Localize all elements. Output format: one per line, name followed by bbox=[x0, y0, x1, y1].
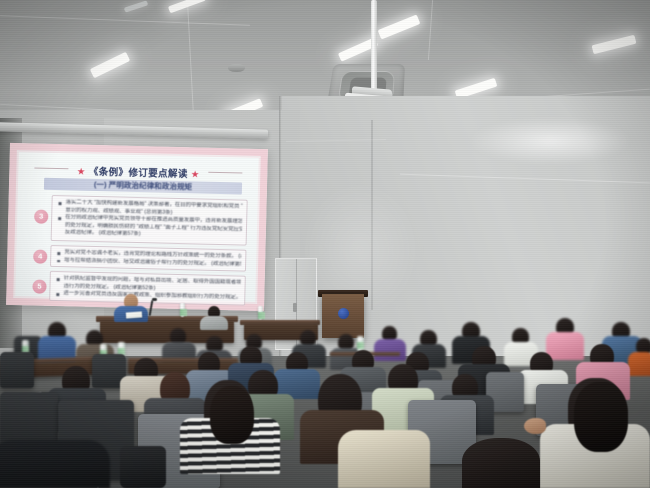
attendee-hand bbox=[524, 418, 546, 434]
attendee-body bbox=[0, 440, 110, 488]
chair bbox=[0, 352, 34, 388]
star-icon-right: ★ bbox=[191, 169, 200, 180]
presenter-document bbox=[126, 311, 142, 318]
attendee-body bbox=[628, 352, 650, 376]
star-icon-left: ★ bbox=[77, 167, 86, 178]
door-handle-icon[interactable] bbox=[293, 303, 297, 312]
slide-section-number: 4 bbox=[33, 249, 47, 263]
lectern-emblem-icon bbox=[338, 308, 349, 319]
attendee-hair bbox=[574, 382, 628, 452]
water-bottle bbox=[258, 306, 263, 320]
water-bottle bbox=[180, 303, 185, 317]
slide-canvas: ★ 《条例》修订要点解读 ★ (一) 严明政治纪律和政治规矩 3 落实二十大 "… bbox=[15, 152, 258, 302]
smoke-detector-icon bbox=[228, 64, 245, 72]
attendee-body bbox=[546, 332, 584, 360]
attendee-head bbox=[462, 438, 540, 488]
projector-mount-pole bbox=[371, 0, 377, 100]
table-microphone-head bbox=[152, 298, 157, 301]
slide-section: 3 落实二十大 "加快构建新发展格局" 决策部署，在目的中要求党组织和党员 "增… bbox=[51, 195, 248, 246]
slide-section-number: 5 bbox=[32, 279, 46, 293]
projection-screen: ★ 《条例》修订要点解读 ★ (一) 严明政治纪律和政治规矩 3 落实二十大 "… bbox=[6, 143, 268, 311]
slide-section-number: 3 bbox=[34, 209, 48, 223]
attendee-body bbox=[374, 339, 406, 361]
bag bbox=[120, 446, 166, 488]
attendee-body bbox=[338, 430, 430, 488]
slide-section: 4 充实对党不忠诚不老实，违背党的理论和路线方针政策统一的处分条款。 (政治纪律… bbox=[50, 245, 246, 272]
attendee-hair bbox=[210, 386, 254, 444]
conference-room-photo: ★ 《条例》修订要点解读 ★ (一) 严明政治纪律和政治规矩 3 落实二十大 "… bbox=[0, 0, 650, 488]
slide-section: 5 针对执纪监督中发现的问题，增写对私自出境、定居、取得外国国籍或者境外永久居留… bbox=[49, 271, 246, 306]
attendee-body bbox=[200, 316, 228, 330]
wall-light-reflection bbox=[470, 118, 630, 164]
